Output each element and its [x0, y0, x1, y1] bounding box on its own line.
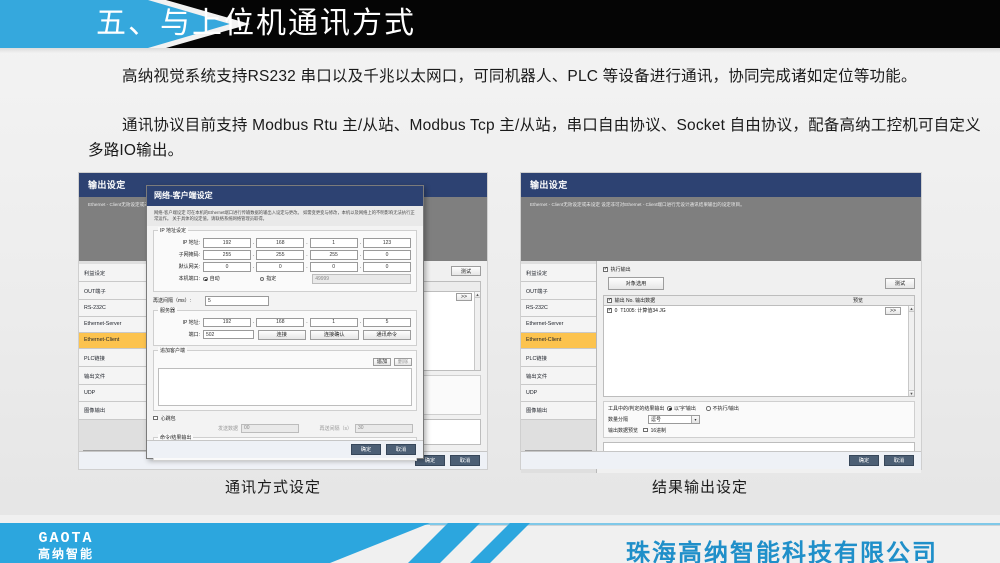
server-group: 服务器 IP 地址: 192 . 168 . 1 . 5 端口: 502 连接 — [153, 310, 417, 346]
judge-options-group: 工具中的/判定的结果输出 以'字'输出 不执行/输出 数量分隔 逗号 ▾ — [603, 401, 915, 438]
output-list-scrollbar-left[interactable]: ▲ — [474, 292, 480, 370]
nav-item-right-5[interactable]: PLC链接 — [521, 349, 596, 367]
server-port-input[interactable]: 502 — [203, 330, 254, 340]
screenshot-communication-settings: 输出设定 Ethernet - Client无效设定或未设定 设定非可对Ethe… — [78, 172, 488, 470]
preview-label: 输出数据预览 — [608, 427, 643, 434]
ip-octet-3[interactable]: 1 — [310, 238, 358, 248]
additional-client-group-label: 追加客户端 — [158, 347, 187, 354]
ip-octet-2[interactable]: 168 — [256, 238, 304, 248]
subnet-octet-4[interactable]: 0 — [363, 250, 411, 260]
port-value-input[interactable]: 49999 — [312, 274, 411, 284]
heartbeat-interval-label: 再送间隔（s） — [299, 425, 355, 432]
dialog-title: 网络-客户端设定 — [147, 186, 423, 206]
scroll-up-icon-left[interactable]: ▲ — [475, 292, 480, 298]
footer-stripe-2 — [470, 523, 530, 563]
nav-item-6[interactable]: 输出文件 — [79, 367, 154, 385]
test-button-left[interactable]: 测试 — [451, 266, 481, 276]
connect-confirm-button[interactable]: 连接确认 — [310, 330, 359, 340]
logo-text-cn: 高纳智能 — [38, 547, 94, 561]
gateway-octet-2[interactable]: 0 — [256, 262, 304, 272]
ip-settings-group-label: IP 地址设定 — [158, 227, 188, 234]
nav-item-2[interactable]: RS-232C — [79, 300, 154, 316]
move-right-button-left[interactable]: >> — [456, 293, 472, 301]
page-title: 五、与上位机通讯方式 — [96, 2, 416, 46]
gateway-label: 默认网关: — [159, 263, 203, 270]
separator-dropdown[interactable]: 逗号 ▾ — [648, 415, 700, 425]
client-delete-button[interactable]: 删除 — [394, 358, 412, 366]
row-checkbox[interactable] — [607, 308, 612, 313]
server-ip-octet-4[interactable]: 5 — [363, 318, 411, 328]
move-right-button-right[interactable]: >> — [885, 307, 901, 315]
server-ip-octet-2[interactable]: 168 — [256, 318, 304, 328]
hex-label: 16进制 — [648, 427, 667, 434]
judge-label: 工具中的/判定的结果输出 — [608, 405, 667, 412]
comm-check-button[interactable]: 通讯命令 — [363, 330, 412, 340]
heartbeat-label: 心跳包 — [158, 415, 176, 422]
window-description-right: Ethernet - Client无效设定或未设定 设定非可对Ethernet … — [521, 197, 921, 261]
subnet-label: 子网掩码: — [159, 251, 203, 258]
list-header-left-label: 输出 No. 输出数据 — [612, 297, 656, 304]
separator-label: 数量分隔 — [608, 416, 648, 423]
company-name: 珠海高纳智能科技有限公司 — [626, 533, 938, 563]
window-nav-right: 利益设定 OUT端子 RS-232C Ethernet-Server Ether… — [521, 261, 597, 473]
screenshot-result-output-settings: 输出设定 Ethernet - Client无效设定或未设定 设定非可对Ethe… — [520, 172, 922, 470]
dialog-cancel-button[interactable]: 取消 — [386, 444, 416, 455]
separator-value: 逗号 — [651, 416, 661, 423]
heartbeat-interval-input[interactable]: 30 — [355, 424, 413, 434]
list-header-right-label: 预览 — [853, 297, 911, 304]
scroll-up-icon-right[interactable]: ▲ — [909, 306, 914, 312]
dialog-ok-button[interactable]: 确定 — [351, 444, 381, 455]
output-list-right[interactable]: 0 T1005: 计算值34 JG >> ▲ ▼ — [603, 305, 915, 397]
nav-item-3[interactable]: Ethernet-Server — [79, 317, 154, 333]
retry-interval-label: 再送间隔（ms）: — [153, 297, 205, 304]
page-footer: GAOTA 高纳智能 珠海高纳智能科技有限公司 — [0, 515, 1000, 563]
cancel-button-left[interactable]: 取消 — [450, 455, 480, 466]
intro-paragraph-1: 高纳视觉系统支持RS232 串口以及千兆以太网口，可同机器人、PLC 等设备进行… — [88, 64, 988, 89]
caption-right: 结果输出设定 — [652, 476, 748, 497]
header-underline — [0, 48, 1000, 53]
nav-item-right-1[interactable]: OUT端子 — [521, 282, 596, 300]
footer-stripe-1 — [408, 523, 480, 563]
server-port-label: 端口: — [159, 331, 203, 338]
connect-button[interactable]: 连接 — [258, 330, 307, 340]
ip-label: IP 地址: — [159, 239, 203, 246]
ok-button-right[interactable]: 确定 — [849, 455, 879, 466]
nav-item-right-7[interactable]: UDP — [521, 385, 596, 401]
page-header: 五、与上位机通讯方式 — [0, 0, 1000, 48]
gateway-octet-4[interactable]: 0 — [363, 262, 411, 272]
row-data: T1005: 计算值34 JG — [620, 307, 665, 314]
window-nav-left: 利益设定 OUT端子 RS-232C Ethernet-Server Ether… — [79, 261, 155, 461]
subnet-octet-3[interactable]: 255 — [310, 250, 358, 260]
server-group-label: 服务器 — [158, 307, 177, 314]
judge-option-2-label: 不执行/输出 — [711, 405, 739, 412]
nav-item-right-2[interactable]: RS-232C — [521, 300, 596, 316]
server-ip-octet-3[interactable]: 1 — [310, 318, 358, 328]
heartbeat-data-input[interactable]: 00 — [241, 424, 299, 434]
chevron-down-icon[interactable]: ▾ — [691, 416, 699, 424]
nav-item-7[interactable]: UDP — [79, 385, 154, 401]
row-number: 0 — [615, 308, 618, 314]
gateway-octet-3[interactable]: 0 — [310, 262, 358, 272]
logo-text-en: GAOTA — [38, 531, 94, 547]
table-row[interactable]: 0 T1005: 计算值34 JG >> — [604, 306, 914, 315]
judge-option-2-radio[interactable] — [706, 406, 711, 411]
intro-paragraph-2: 通讯协议目前支持 Modbus Rtu 主/从站、Modbus Tcp 主/从站… — [88, 113, 988, 163]
output-list-header-right: 输出 No. 输出数据 预览 — [603, 295, 915, 305]
ip-octet-4[interactable]: 123 — [363, 238, 411, 248]
dialog-footer: 确定 取消 — [147, 440, 423, 458]
ip-settings-group: IP 地址设定 IP 地址: 192 . 168 . 1 . 123 子网掩码:… — [153, 230, 417, 292]
server-ip-octet-1[interactable]: 192 — [203, 318, 251, 328]
judge-option-1-label: 以'字'输出 — [672, 405, 706, 412]
nav-item-5[interactable]: PLC链接 — [79, 349, 154, 367]
retry-interval-input[interactable]: 5 — [205, 296, 269, 306]
nav-item-right-0[interactable]: 利益设定 — [521, 264, 596, 282]
port-auto-radio[interactable] — [203, 277, 208, 282]
window-footer-right: 确定 取消 — [521, 451, 921, 469]
heartbeat-checkbox[interactable] — [153, 416, 158, 421]
additional-client-group: 追加客户端 追加 删除 — [153, 350, 417, 411]
nav-item-0[interactable]: 利益设定 — [79, 264, 154, 282]
caption-left: 通讯方式设定 — [225, 476, 321, 497]
company-logo: GAOTA 高纳智能 — [38, 531, 94, 561]
client-list[interactable] — [158, 368, 412, 406]
test-button-right[interactable]: 测试 — [885, 278, 915, 289]
dialog-description: 网络-客户端设定 可在本机的Ethernet端口进行传输数据的输出入设定与更改。… — [147, 206, 423, 226]
exec-output-label: 执行输出 — [608, 266, 631, 273]
client-add-button[interactable]: 追加 — [373, 358, 391, 366]
output-list-scrollbar-right[interactable]: ▲ ▼ — [908, 306, 914, 396]
nav-item-4-selected[interactable]: Ethernet-Client — [79, 333, 154, 349]
heartbeat-data-label: 发送数据 — [205, 425, 241, 432]
object-select-button[interactable]: 对象选用 — [608, 277, 664, 290]
cancel-button-right[interactable]: 取消 — [884, 455, 914, 466]
output-settings-window-right: 输出设定 Ethernet - Client无效设定或未设定 设定非可对Ethe… — [521, 173, 921, 469]
preview-value — [604, 443, 914, 447]
subnet-octet-2[interactable]: 255 — [256, 250, 304, 260]
scroll-down-icon-right[interactable]: ▼ — [909, 390, 914, 396]
select-all-checkbox[interactable] — [607, 298, 612, 303]
gateway-octet-1[interactable]: 0 — [203, 262, 251, 272]
judge-option-1-radio[interactable] — [667, 406, 672, 411]
server-ip-label: IP 地址: — [159, 319, 203, 326]
network-client-settings-dialog: 网络-客户端设定 网络-客户端设定 可在本机的Ethernet端口进行传输数据的… — [146, 185, 424, 459]
nav-item-right-3[interactable]: Ethernet-Server — [521, 317, 596, 333]
window-main-right: 执行输出 对象选用 测试 输出 No. 输出数据 预览 0 T1005: 计算值… — [597, 261, 921, 473]
nav-item-right-8[interactable]: 图像输出 — [521, 402, 596, 420]
local-port-label: 本机端口: — [159, 275, 203, 282]
nav-item-8[interactable]: 图像输出 — [79, 402, 154, 420]
nav-item-right-6[interactable]: 输出文件 — [521, 367, 596, 385]
window-title-right: 输出设定 — [521, 173, 921, 197]
nav-item-1[interactable]: OUT端子 — [79, 282, 154, 300]
port-auto-label: 自动 — [208, 275, 260, 282]
subnet-octet-1[interactable]: 255 — [203, 250, 251, 260]
nav-item-right-4-selected[interactable]: Ethernet-Client — [521, 333, 596, 349]
exec-output-checkbox[interactable] — [603, 267, 608, 272]
hex-checkbox[interactable] — [643, 428, 648, 433]
port-fixed-label: 指定 — [264, 275, 312, 282]
ip-octet-1[interactable]: 192 — [203, 238, 251, 248]
